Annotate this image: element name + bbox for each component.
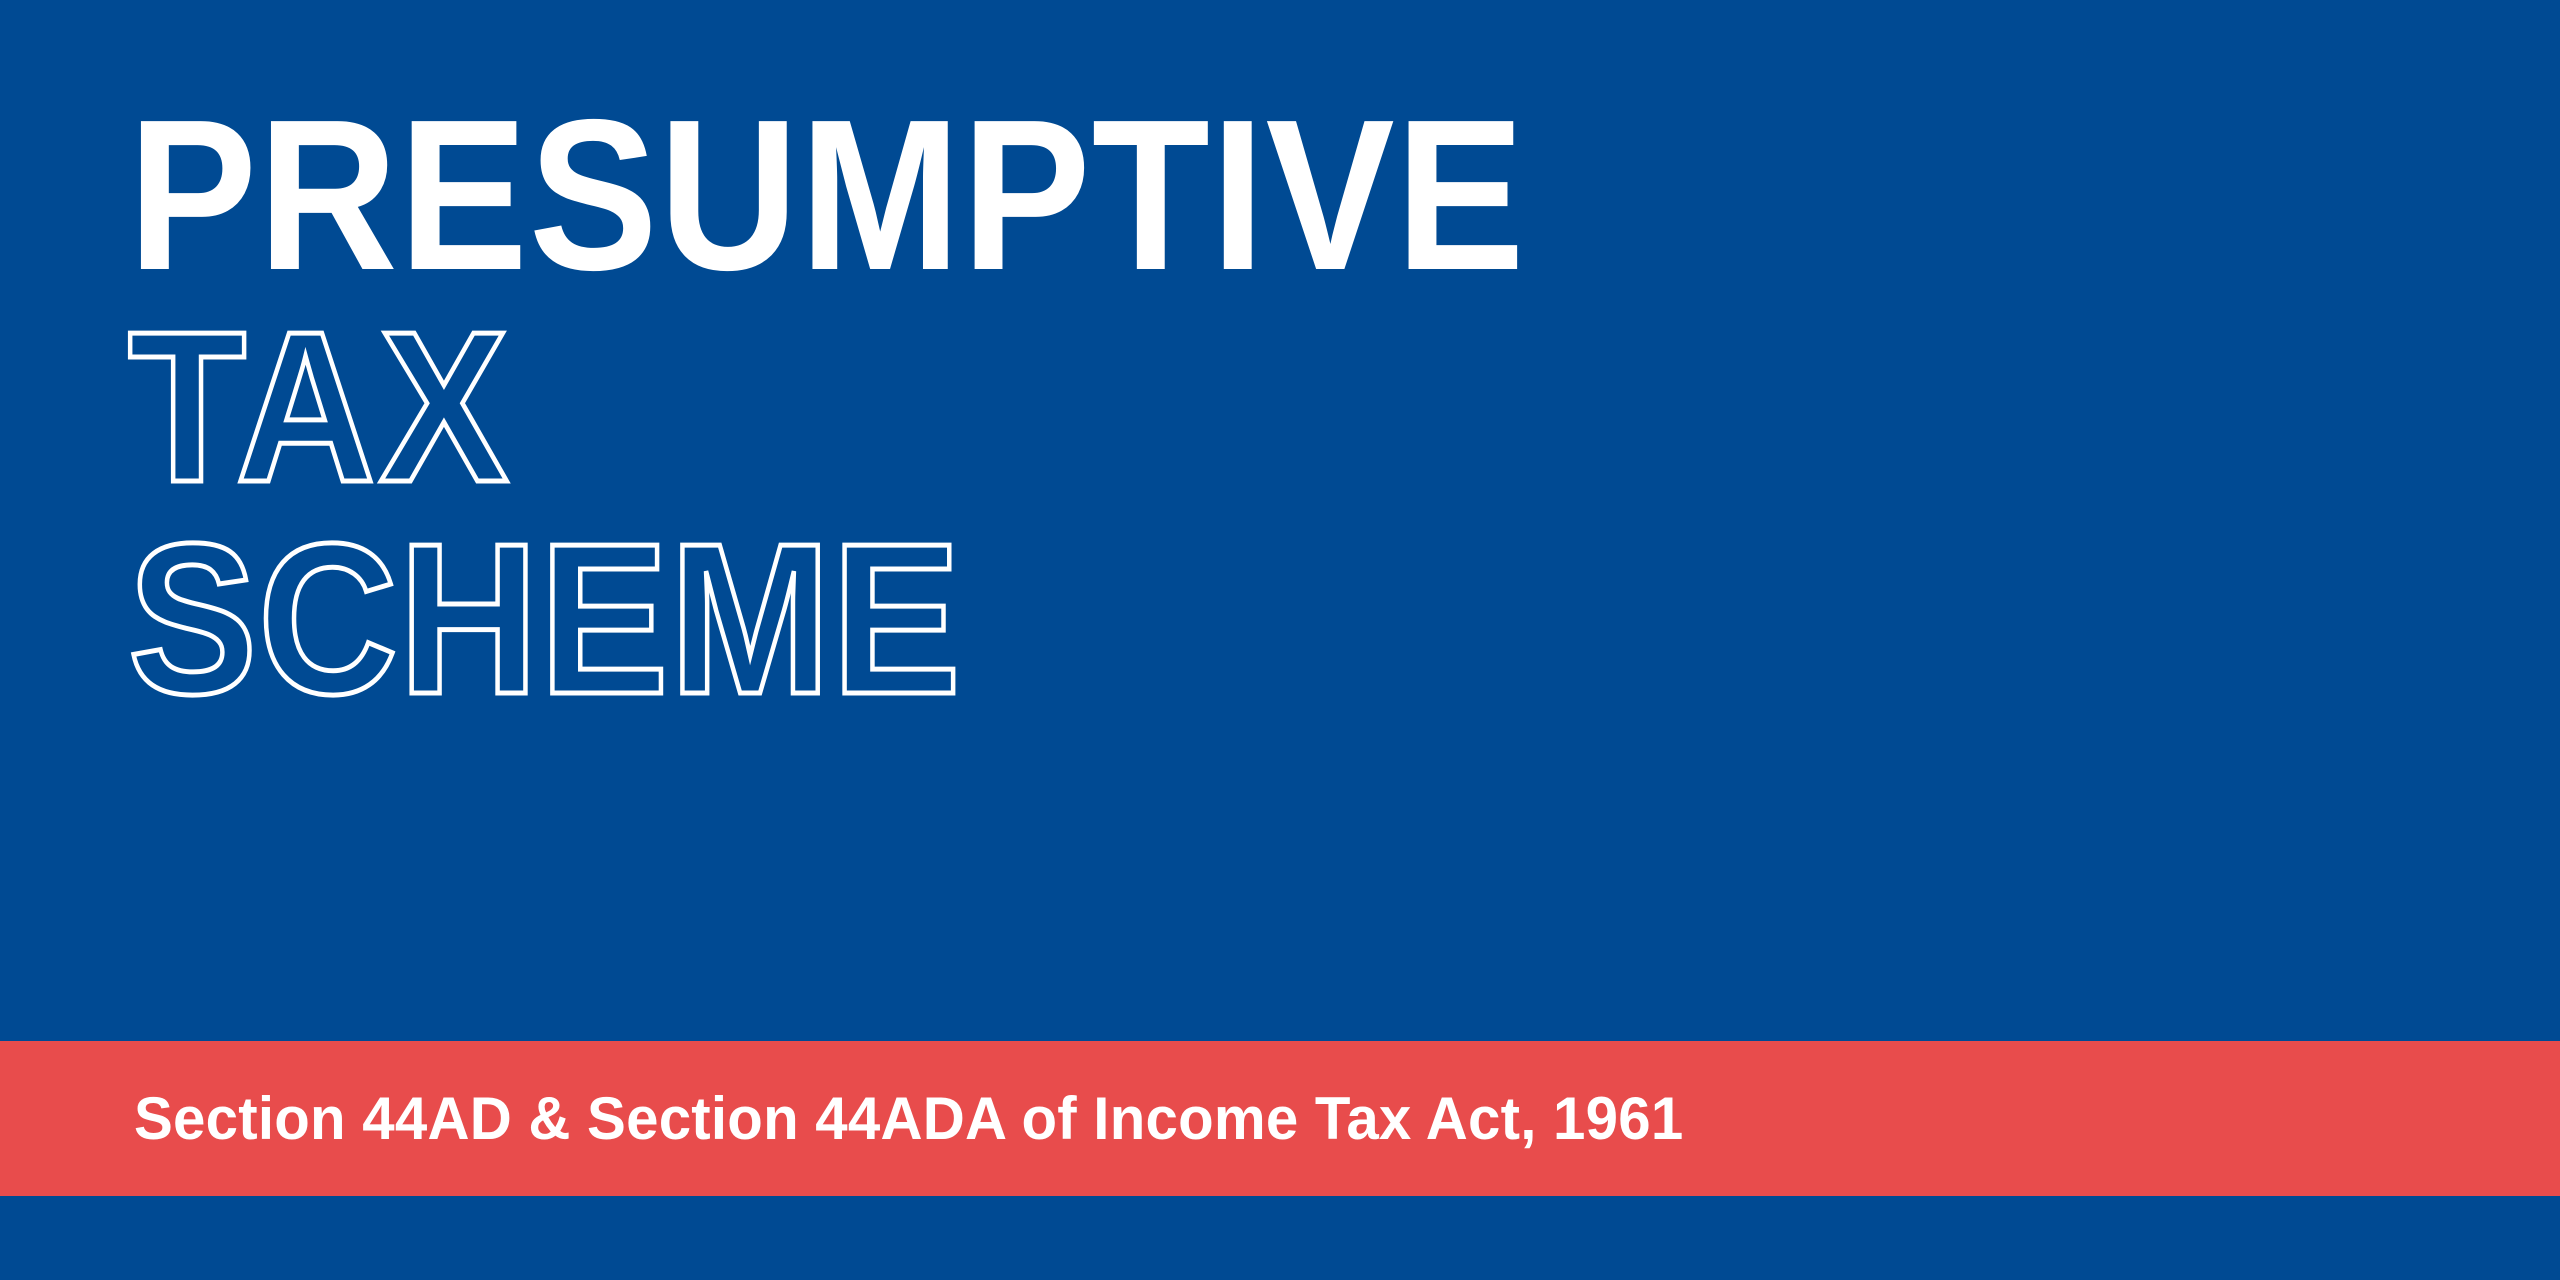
headline-line-scheme: SCHEME [128, 520, 1568, 718]
subbanner-caption: Section 44AD & Section 44ADA of Income T… [134, 1084, 1683, 1153]
bottom-blue-strip [0, 1196, 2560, 1280]
headline-stack: PRESUMPTIVE TAX SCHEME [128, 96, 1728, 731]
subbanner-red-strip: Section 44AD & Section 44ADA of Income T… [0, 1041, 2560, 1196]
headline-line-tax: TAX [128, 308, 1568, 506]
presumptive-tax-scheme-banner: PRESUMPTIVE TAX SCHEME Section 44AD & Se… [0, 0, 2560, 1280]
headline-line-presumptive: PRESUMPTIVE [128, 96, 1568, 294]
